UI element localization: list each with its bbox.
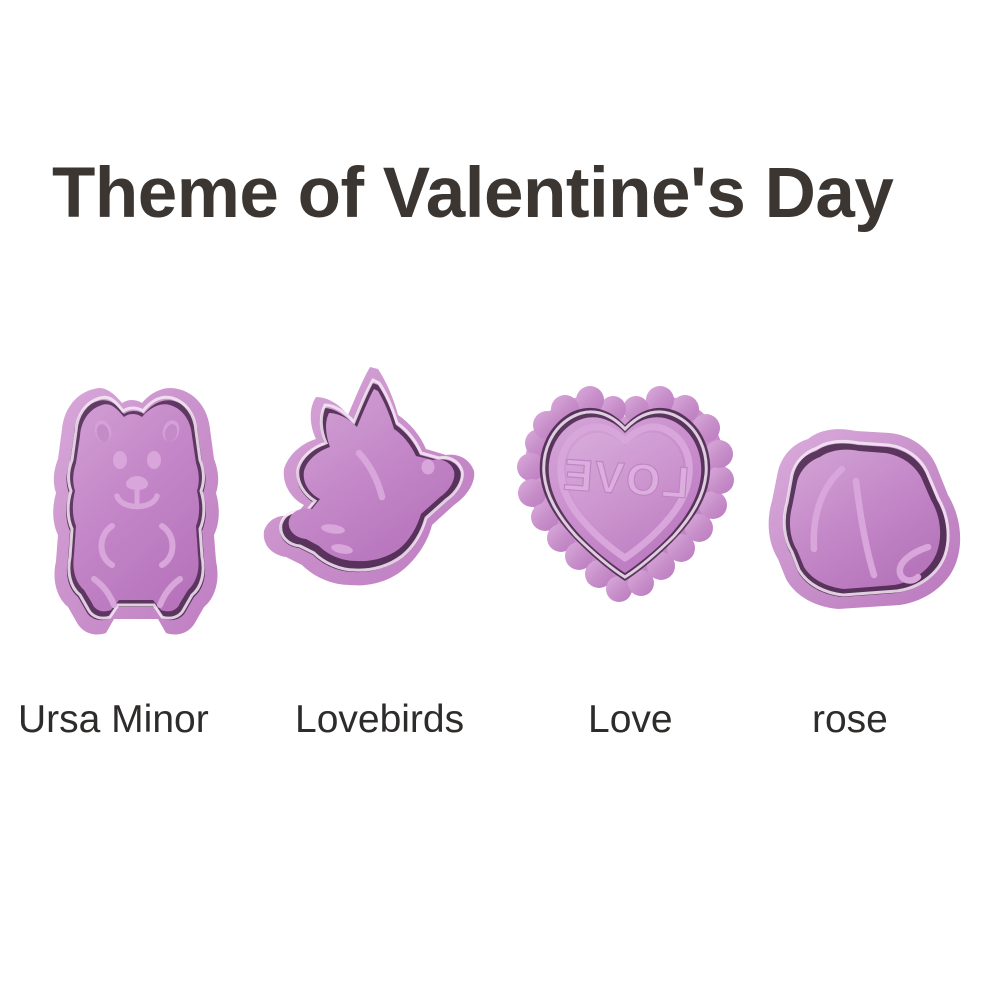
product-image-canvas: Theme of Valentine's Day <box>0 0 1002 1002</box>
heart-love-stamp-text: LOVE <box>560 450 691 508</box>
product-row: LOVE <box>0 355 1002 655</box>
product-ursa-minor[interactable] <box>32 383 242 645</box>
rose-cookie-cutter-icon <box>760 417 975 617</box>
dove-eye <box>422 460 435 475</box>
bear-eye-left <box>113 451 127 469</box>
bear-eye-right <box>147 451 161 469</box>
bear-cookie-cutter-icon <box>32 383 242 645</box>
product-love[interactable]: LOVE <box>505 355 745 610</box>
product-lovebirds[interactable] <box>258 357 498 597</box>
page-title: Theme of Valentine's Day <box>52 158 952 229</box>
dove-cookie-cutter-icon <box>258 357 498 597</box>
label-love: Love <box>588 700 673 739</box>
label-ursa-minor: Ursa Minor <box>18 700 209 739</box>
product-labels: Ursa Minor Lovebirds Love rose <box>0 698 1002 758</box>
product-rose[interactable] <box>760 417 975 617</box>
heart-cookie-cutter-icon: LOVE <box>505 355 745 610</box>
label-rose: rose <box>812 700 888 739</box>
heart-love-text: LOVE <box>560 450 691 508</box>
label-lovebirds: Lovebirds <box>295 700 464 739</box>
